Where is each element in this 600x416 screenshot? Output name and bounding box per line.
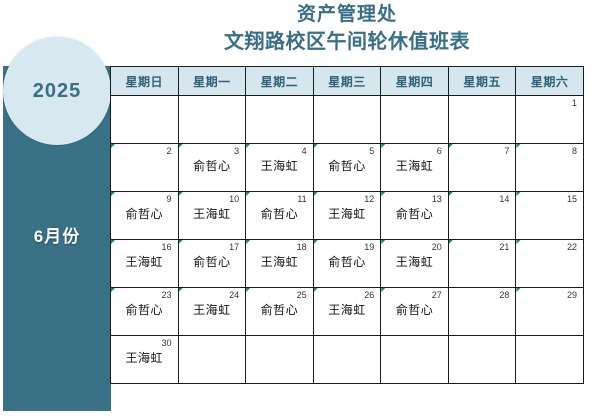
day-number: 1 — [572, 98, 577, 109]
day-number: 23 — [162, 290, 172, 301]
day-number: 26 — [364, 290, 374, 301]
day-cell-inner: 11俞哲心 — [246, 192, 313, 239]
comment-marker-icon — [516, 240, 520, 244]
day-cell-inner: 17俞哲心 — [179, 240, 246, 287]
calendar-day-cell[interactable]: 15 — [516, 192, 584, 240]
calendar-day-cell[interactable]: 11俞哲心 — [246, 192, 314, 240]
calendar-week-row: 23俞哲心24王海虹25俞哲心26王海虹27俞哲心2829 — [111, 288, 584, 336]
comment-marker-icon — [314, 192, 318, 196]
calendar-day-cell[interactable] — [178, 96, 246, 144]
comment-marker-icon — [314, 240, 318, 244]
day-number: 17 — [229, 242, 239, 253]
day-cell-inner: 5俞哲心 — [314, 144, 381, 191]
weekday-header-3: 星期三 — [313, 67, 381, 96]
duty-person-name: 俞哲心 — [314, 158, 381, 174]
duty-person-name: 王海虹 — [314, 302, 381, 318]
day-cell-inner — [111, 96, 178, 143]
weekday-header-0: 星期日 — [111, 67, 179, 96]
day-cell-inner — [179, 336, 246, 383]
calendar-day-cell[interactable]: 10王海虹 — [178, 192, 246, 240]
day-cell-inner: 30王海虹 — [111, 336, 178, 383]
comment-marker-icon — [314, 144, 318, 148]
day-number: 20 — [432, 242, 442, 253]
comment-marker-icon — [111, 144, 115, 148]
calendar-day-cell[interactable]: 18王海虹 — [246, 240, 314, 288]
duty-person-name: 王海虹 — [111, 254, 178, 270]
day-cell-inner: 2 — [111, 144, 178, 191]
day-number: 25 — [297, 290, 307, 301]
calendar-day-cell[interactable] — [313, 336, 381, 384]
day-cell-inner: 18王海虹 — [246, 240, 313, 287]
calendar-day-cell[interactable] — [516, 336, 584, 384]
calendar-day-cell[interactable]: 23俞哲心 — [111, 288, 179, 336]
comment-marker-icon — [246, 192, 250, 196]
calendar-day-cell[interactable] — [111, 96, 179, 144]
day-cell-inner: 29 — [516, 288, 583, 335]
day-cell-inner: 7 — [449, 144, 516, 191]
day-number: 22 — [567, 242, 577, 253]
weekday-header-2: 星期二 — [246, 67, 314, 96]
day-cell-inner: 19俞哲心 — [314, 240, 381, 287]
day-number: 21 — [499, 242, 509, 253]
day-cell-inner: 26王海虹 — [314, 288, 381, 335]
duty-person-name: 王海虹 — [381, 158, 448, 174]
comment-marker-icon — [246, 240, 250, 244]
day-number: 6 — [437, 146, 442, 157]
weekday-header-4: 星期四 — [381, 67, 449, 96]
calendar-day-cell[interactable] — [246, 96, 314, 144]
day-cell-inner — [516, 336, 583, 383]
title-department: 资产管理处 — [110, 2, 584, 28]
day-cell-inner: 25俞哲心 — [246, 288, 313, 335]
weekday-header-5: 星期五 — [448, 67, 516, 96]
day-number: 8 — [572, 146, 577, 157]
calendar-day-cell[interactable]: 1 — [516, 96, 584, 144]
calendar-header-row: 星期日星期一星期二星期三星期四星期五星期六 — [111, 67, 584, 96]
calendar-day-cell[interactable]: 13俞哲心 — [381, 192, 449, 240]
day-cell-inner: 22 — [516, 240, 583, 287]
comment-marker-icon — [449, 144, 453, 148]
day-cell-inner: 4王海虹 — [246, 144, 313, 191]
duty-person-name: 俞哲心 — [246, 302, 313, 318]
day-number: 24 — [229, 290, 239, 301]
day-cell-inner: 6王海虹 — [381, 144, 448, 191]
day-number: 2 — [167, 146, 172, 157]
duty-person-name: 王海虹 — [314, 206, 381, 222]
calendar-day-cell[interactable] — [448, 336, 516, 384]
day-cell-inner: 1 — [516, 96, 583, 143]
day-cell-inner: 16王海虹 — [111, 240, 178, 287]
calendar-week-row: 30王海虹 — [111, 336, 584, 384]
day-number: 3 — [234, 146, 239, 157]
day-cell-inner — [246, 336, 313, 383]
day-cell-inner — [449, 96, 516, 143]
day-cell-inner: 9俞哲心 — [111, 192, 178, 239]
day-number: 30 — [162, 338, 172, 349]
calendar-day-cell[interactable]: 24王海虹 — [178, 288, 246, 336]
calendar-day-cell[interactable]: 4王海虹 — [246, 144, 314, 192]
calendar-day-cell[interactable]: 3俞哲心 — [178, 144, 246, 192]
comment-marker-icon — [246, 288, 250, 292]
day-number: 13 — [432, 194, 442, 205]
comment-marker-icon — [246, 144, 250, 148]
comment-marker-icon — [516, 288, 520, 292]
calendar-day-cell[interactable]: 26王海虹 — [313, 288, 381, 336]
calendar-day-cell[interactable]: 17俞哲心 — [178, 240, 246, 288]
day-number: 19 — [364, 242, 374, 253]
calendar-day-cell[interactable]: 25俞哲心 — [246, 288, 314, 336]
calendar-day-cell[interactable]: 12王海虹 — [313, 192, 381, 240]
day-cell-inner — [381, 96, 448, 143]
calendar-day-cell[interactable]: 30王海虹 — [111, 336, 179, 384]
comment-marker-icon — [179, 144, 183, 148]
duty-roster-page: 资产管理处 文翔路校区午间轮休值班表 6月份 2025 星期日星期一星期二星期三… — [0, 0, 600, 416]
day-cell-inner — [246, 96, 313, 143]
calendar-day-cell[interactable]: 20王海虹 — [381, 240, 449, 288]
comment-marker-icon — [111, 192, 115, 196]
comment-marker-icon — [381, 144, 385, 148]
comment-marker-icon — [516, 192, 520, 196]
comment-marker-icon — [111, 288, 115, 292]
day-number: 12 — [364, 194, 374, 205]
calendar-day-cell[interactable] — [381, 96, 449, 144]
day-cell-inner — [314, 96, 381, 143]
day-cell-inner: 8 — [516, 144, 583, 191]
year-label: 2025 — [33, 80, 82, 103]
duty-person-name: 俞哲心 — [314, 254, 381, 270]
day-cell-inner — [381, 336, 448, 383]
comment-marker-icon — [111, 240, 115, 244]
page-title: 资产管理处 文翔路校区午间轮休值班表 — [110, 2, 584, 56]
comment-marker-icon — [381, 192, 385, 196]
calendar-day-cell[interactable] — [313, 96, 381, 144]
day-number: 9 — [167, 194, 172, 205]
day-number: 4 — [302, 146, 307, 157]
comment-marker-icon — [449, 240, 453, 244]
duty-person-name: 俞哲心 — [111, 206, 178, 222]
sidebar-month-label: 6月份 — [3, 222, 111, 247]
calendar-body: 123俞哲心4王海虹5俞哲心6王海虹789俞哲心10王海虹11俞哲心12王海虹1… — [111, 96, 584, 384]
comment-marker-icon — [179, 240, 183, 244]
day-cell-inner: 20王海虹 — [381, 240, 448, 287]
calendar-day-cell[interactable]: 2 — [111, 144, 179, 192]
year-badge: 2025 — [3, 37, 111, 145]
day-cell-inner — [449, 336, 516, 383]
duty-person-name: 王海虹 — [179, 302, 246, 318]
day-cell-inner: 3俞哲心 — [179, 144, 246, 191]
day-cell-inner — [179, 96, 246, 143]
calendar-day-cell[interactable] — [178, 336, 246, 384]
comment-marker-icon — [381, 288, 385, 292]
day-number: 14 — [499, 194, 509, 205]
title-subject: 文翔路校区午间轮休值班表 — [110, 28, 584, 56]
day-cell-inner: 24王海虹 — [179, 288, 246, 335]
day-number: 11 — [297, 194, 306, 205]
calendar-week-row: 1 — [111, 96, 584, 144]
duty-person-name: 王海虹 — [246, 158, 313, 174]
day-cell-inner: 13俞哲心 — [381, 192, 448, 239]
calendar-day-cell[interactable]: 9俞哲心 — [111, 192, 179, 240]
day-number: 27 — [432, 290, 442, 301]
day-number: 29 — [567, 290, 577, 301]
day-number: 7 — [504, 146, 509, 157]
calendar-day-cell[interactable]: 22 — [516, 240, 584, 288]
calendar-week-row: 9俞哲心10王海虹11俞哲心12王海虹13俞哲心1415 — [111, 192, 584, 240]
weekday-header-1: 星期一 — [178, 67, 246, 96]
calendar-day-cell[interactable]: 21 — [448, 240, 516, 288]
day-cell-inner: 12王海虹 — [314, 192, 381, 239]
calendar-table: 星期日星期一星期二星期三星期四星期五星期六 123俞哲心4王海虹5俞哲心6王海虹… — [110, 66, 584, 384]
duty-person-name: 王海虹 — [246, 254, 313, 270]
calendar-day-cell[interactable]: 16王海虹 — [111, 240, 179, 288]
comment-marker-icon — [449, 192, 453, 196]
day-number: 18 — [297, 242, 307, 253]
calendar-day-cell[interactable] — [381, 336, 449, 384]
duty-person-name: 俞哲心 — [246, 206, 313, 222]
day-number: 10 — [229, 194, 239, 205]
duty-person-name: 王海虹 — [111, 350, 178, 366]
duty-person-name: 王海虹 — [179, 206, 246, 222]
comment-marker-icon — [314, 288, 318, 292]
calendar-day-cell[interactable]: 29 — [516, 288, 584, 336]
comment-marker-icon — [179, 288, 183, 292]
day-cell-inner: 10王海虹 — [179, 192, 246, 239]
calendar-day-cell[interactable]: 14 — [448, 192, 516, 240]
comment-marker-icon — [179, 192, 183, 196]
day-cell-inner: 23俞哲心 — [111, 288, 178, 335]
calendar-day-cell[interactable]: 27俞哲心 — [381, 288, 449, 336]
day-cell-inner: 14 — [449, 192, 516, 239]
day-number: 15 — [567, 194, 577, 205]
comment-marker-icon — [381, 240, 385, 244]
duty-person-name: 王海虹 — [381, 254, 448, 270]
calendar-day-cell[interactable]: 19俞哲心 — [313, 240, 381, 288]
duty-person-name: 俞哲心 — [381, 206, 448, 222]
duty-person-name: 俞哲心 — [111, 302, 178, 318]
calendar-day-cell[interactable]: 7 — [448, 144, 516, 192]
day-cell-inner: 27俞哲心 — [381, 288, 448, 335]
day-number: 28 — [499, 290, 509, 301]
calendar-day-cell[interactable] — [448, 96, 516, 144]
day-number: 5 — [369, 146, 374, 157]
day-cell-inner: 21 — [449, 240, 516, 287]
calendar-week-row: 16王海虹17俞哲心18王海虹19俞哲心20王海虹2122 — [111, 240, 584, 288]
day-cell-inner: 15 — [516, 192, 583, 239]
calendar-week-row: 23俞哲心4王海虹5俞哲心6王海虹78 — [111, 144, 584, 192]
duty-person-name: 俞哲心 — [179, 158, 246, 174]
comment-marker-icon — [516, 144, 520, 148]
calendar-day-cell[interactable]: 28 — [448, 288, 516, 336]
calendar-day-cell[interactable]: 5俞哲心 — [313, 144, 381, 192]
calendar-day-cell[interactable] — [246, 336, 314, 384]
duty-person-name: 俞哲心 — [381, 302, 448, 318]
calendar-day-cell[interactable]: 8 — [516, 144, 584, 192]
weekday-header-6: 星期六 — [516, 67, 584, 96]
calendar-day-cell[interactable]: 6王海虹 — [381, 144, 449, 192]
duty-person-name: 俞哲心 — [179, 254, 246, 270]
day-cell-inner: 28 — [449, 288, 516, 335]
day-number: 16 — [162, 242, 172, 253]
day-cell-inner — [314, 336, 381, 383]
